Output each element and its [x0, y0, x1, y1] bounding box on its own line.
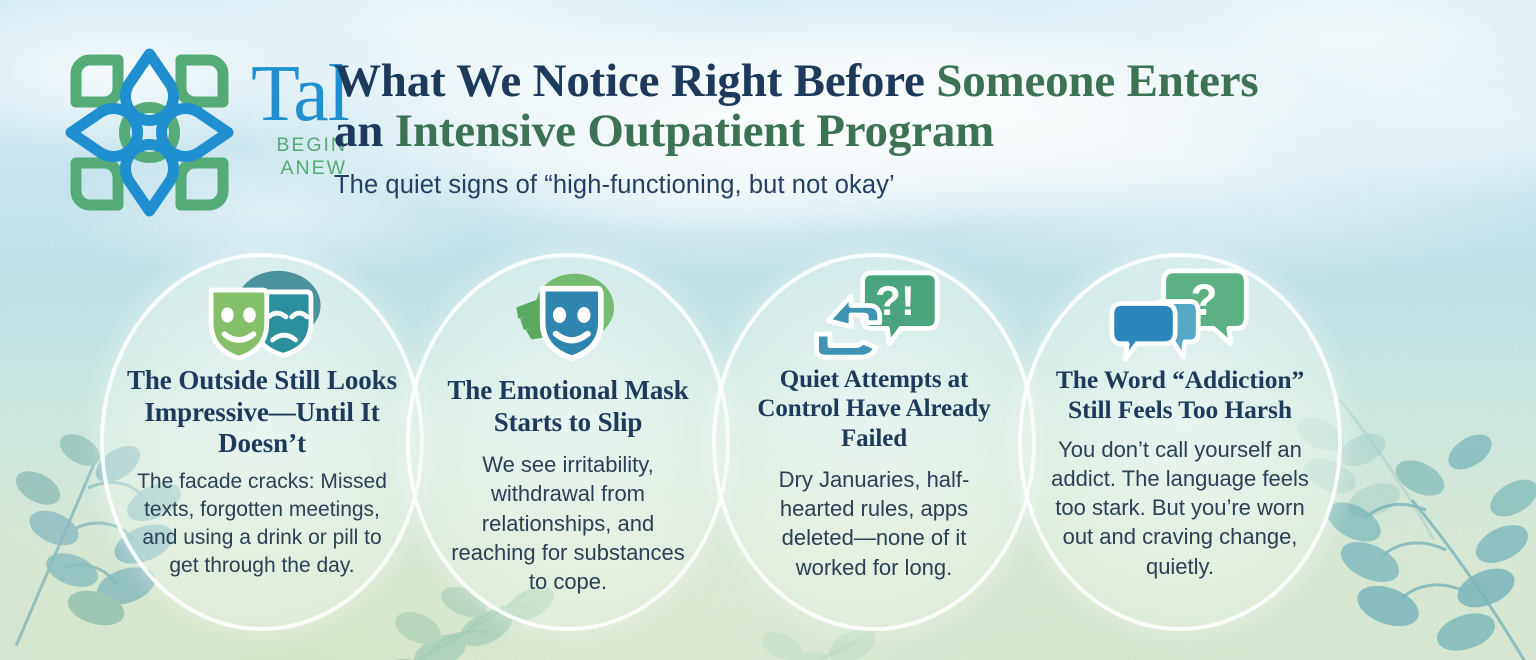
- insight-card-4[interactable]: ? The Word “Addiction” Still Feels Too H…: [1018, 253, 1342, 631]
- card-title: Quiet Attempts at Control Have Already F…: [738, 365, 1010, 453]
- headline-seg-2-green: Intensive Outpatient Program: [395, 105, 994, 157]
- headline-seg-1-green: Someone Enters: [936, 55, 1258, 107]
- loop-arrow-question-bubble-icon: ?!: [807, 267, 941, 363]
- page-headline: What We Notice Right Before Someone Ente…: [334, 56, 1259, 157]
- headline-seg-2-dark: an: [334, 105, 395, 157]
- headline-seg-1-dark: What We Notice Right Before: [334, 55, 936, 107]
- card-body: You don’t call yourself an addict. The l…: [1044, 435, 1316, 581]
- insight-cards: The Outside Still Looks Impressive—Until…: [0, 253, 1536, 660]
- card-title: The Word “Addiction” Still Feels Too Har…: [1044, 365, 1316, 425]
- card-body: Dry Januaries, half-hearted rules, apps …: [750, 465, 998, 582]
- insight-card-1[interactable]: The Outside Still Looks Impressive—Until…: [100, 253, 424, 631]
- page-subtitle: The quiet signs of “high-functioning, bu…: [334, 171, 1259, 200]
- header: Tal BEGIN ANEW What We Notice Right Befo…: [0, 0, 1536, 240]
- card-body: We see irritability, withdrawal from rel…: [443, 450, 693, 596]
- card-body: The facade cracks: Missed texts, forgott…: [126, 468, 398, 580]
- headline-line-2: an Intensive Outpatient Program: [334, 105, 994, 157]
- tal-flower-logo-icon: [62, 40, 237, 225]
- card-title: The Outside Still Looks Impressive—Until…: [126, 365, 398, 460]
- insight-card-2[interactable]: The Emotional Mask Starts to Slip We see…: [406, 253, 730, 631]
- speech-bubbles-question-icon: ?: [1107, 267, 1253, 363]
- infographic-canvas: Tal BEGIN ANEW What We Notice Right Befo…: [0, 0, 1536, 660]
- headline-line-1: What We Notice Right Before Someone Ente…: [334, 55, 1259, 107]
- title-block: What We Notice Right Before Someone Ente…: [330, 0, 1259, 200]
- theater-masks-icon: [199, 267, 325, 363]
- insight-card-3[interactable]: ?! Quiet Attempts at Control Have Alread…: [712, 253, 1036, 631]
- slipping-mask-icon: [507, 267, 629, 363]
- brand-logo[interactable]: Tal BEGIN ANEW: [0, 0, 330, 225]
- card-title: The Emotional Mask Starts to Slip: [432, 375, 704, 438]
